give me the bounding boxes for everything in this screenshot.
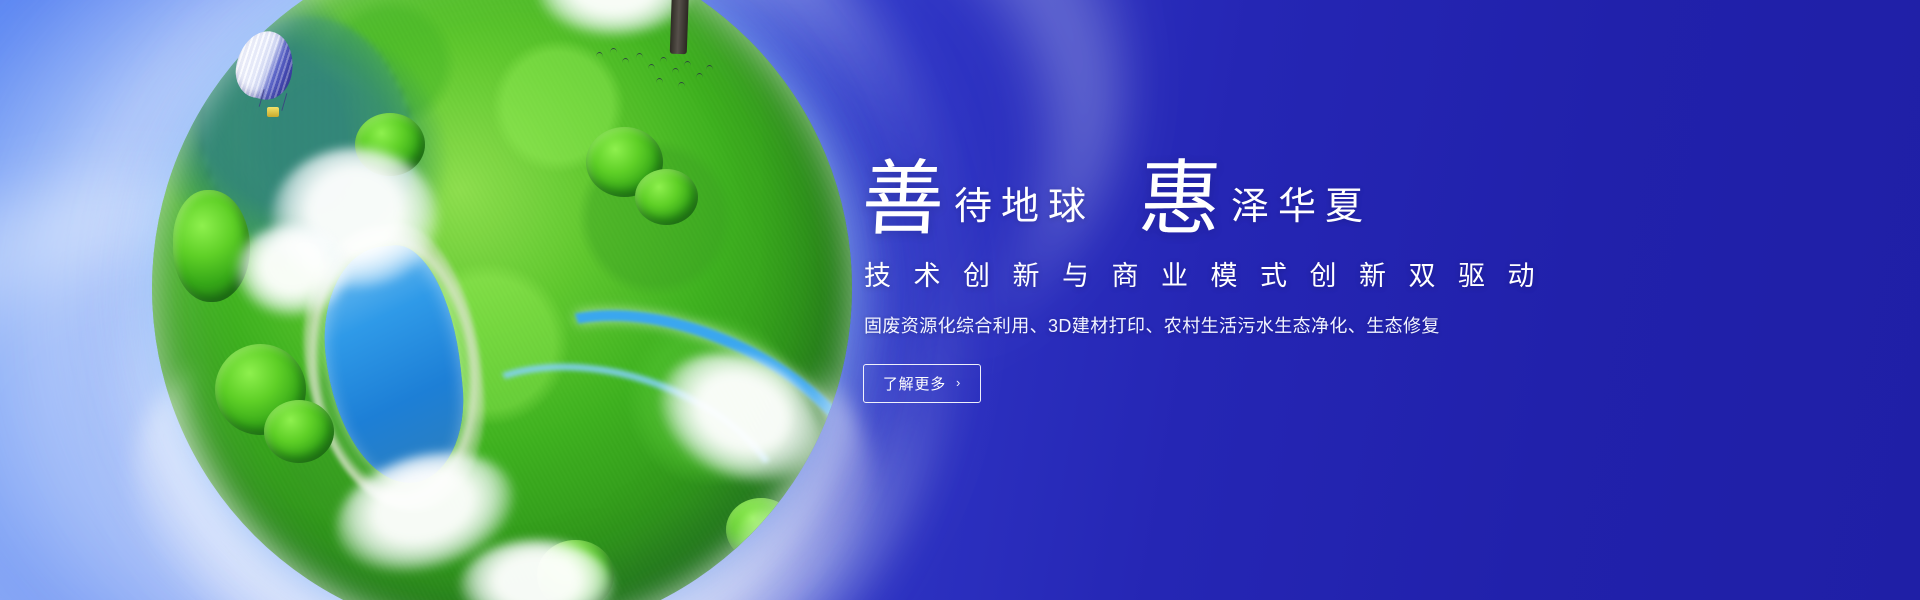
hot-air-balloon-icon — [237, 31, 293, 123]
bird-icon — [678, 82, 685, 87]
headline-rest-glyphs-1: 待地球 — [954, 175, 1095, 230]
cloud-icon — [236, 225, 348, 316]
bird-icon — [596, 52, 603, 57]
headline-phrase-1: 善 待地球 — [862, 157, 1095, 236]
tree-cluster-icon — [635, 169, 698, 225]
bird-icon — [636, 53, 643, 58]
learn-more-label: 了解更多 — [883, 373, 946, 394]
bird-icon — [672, 68, 679, 73]
bird-icon — [656, 78, 663, 83]
headline-phrase-2: 惠 泽华夏 — [1139, 157, 1372, 236]
hero-banner: 善 待地球 惠 泽华夏 技 术 创 新 与 商 业 模 式 创 新 双 驱 动 … — [0, 0, 1920, 600]
bird-icon — [684, 61, 691, 66]
headline-lead-glyph-1: 善 — [860, 161, 946, 240]
subtitle: 技 术 创 新 与 商 业 模 式 创 新 双 驱 动 — [864, 254, 1582, 293]
chevron-right-icon: › — [956, 376, 961, 389]
headline-rest-glyphs-2: 泽华夏 — [1231, 175, 1372, 230]
bird-icon — [696, 73, 703, 78]
tree-cluster-icon — [264, 400, 334, 463]
headline-lead-glyph-2: 惠 — [1137, 161, 1223, 240]
tree-cluster-icon — [726, 498, 796, 561]
balloon-basket — [267, 107, 279, 117]
description: 固废资源化综合利用、3D建材打印、农村生活污水生态净化、生态修复 — [864, 312, 1582, 338]
headline: 善 待地球 惠 泽华夏 — [862, 140, 1582, 236]
bird-icon — [610, 48, 617, 53]
bird-icon — [660, 57, 667, 62]
bird-icon — [706, 65, 713, 70]
birds-flock-icon — [592, 46, 722, 92]
bird-icon — [622, 58, 629, 63]
learn-more-button[interactable]: 了解更多 › — [863, 364, 981, 403]
bird-icon — [648, 64, 655, 69]
large-tree-icon — [576, 0, 826, 52]
banner-content: 善 待地球 惠 泽华夏 技 术 创 新 与 商 业 模 式 创 新 双 驱 动 … — [862, 140, 1582, 403]
